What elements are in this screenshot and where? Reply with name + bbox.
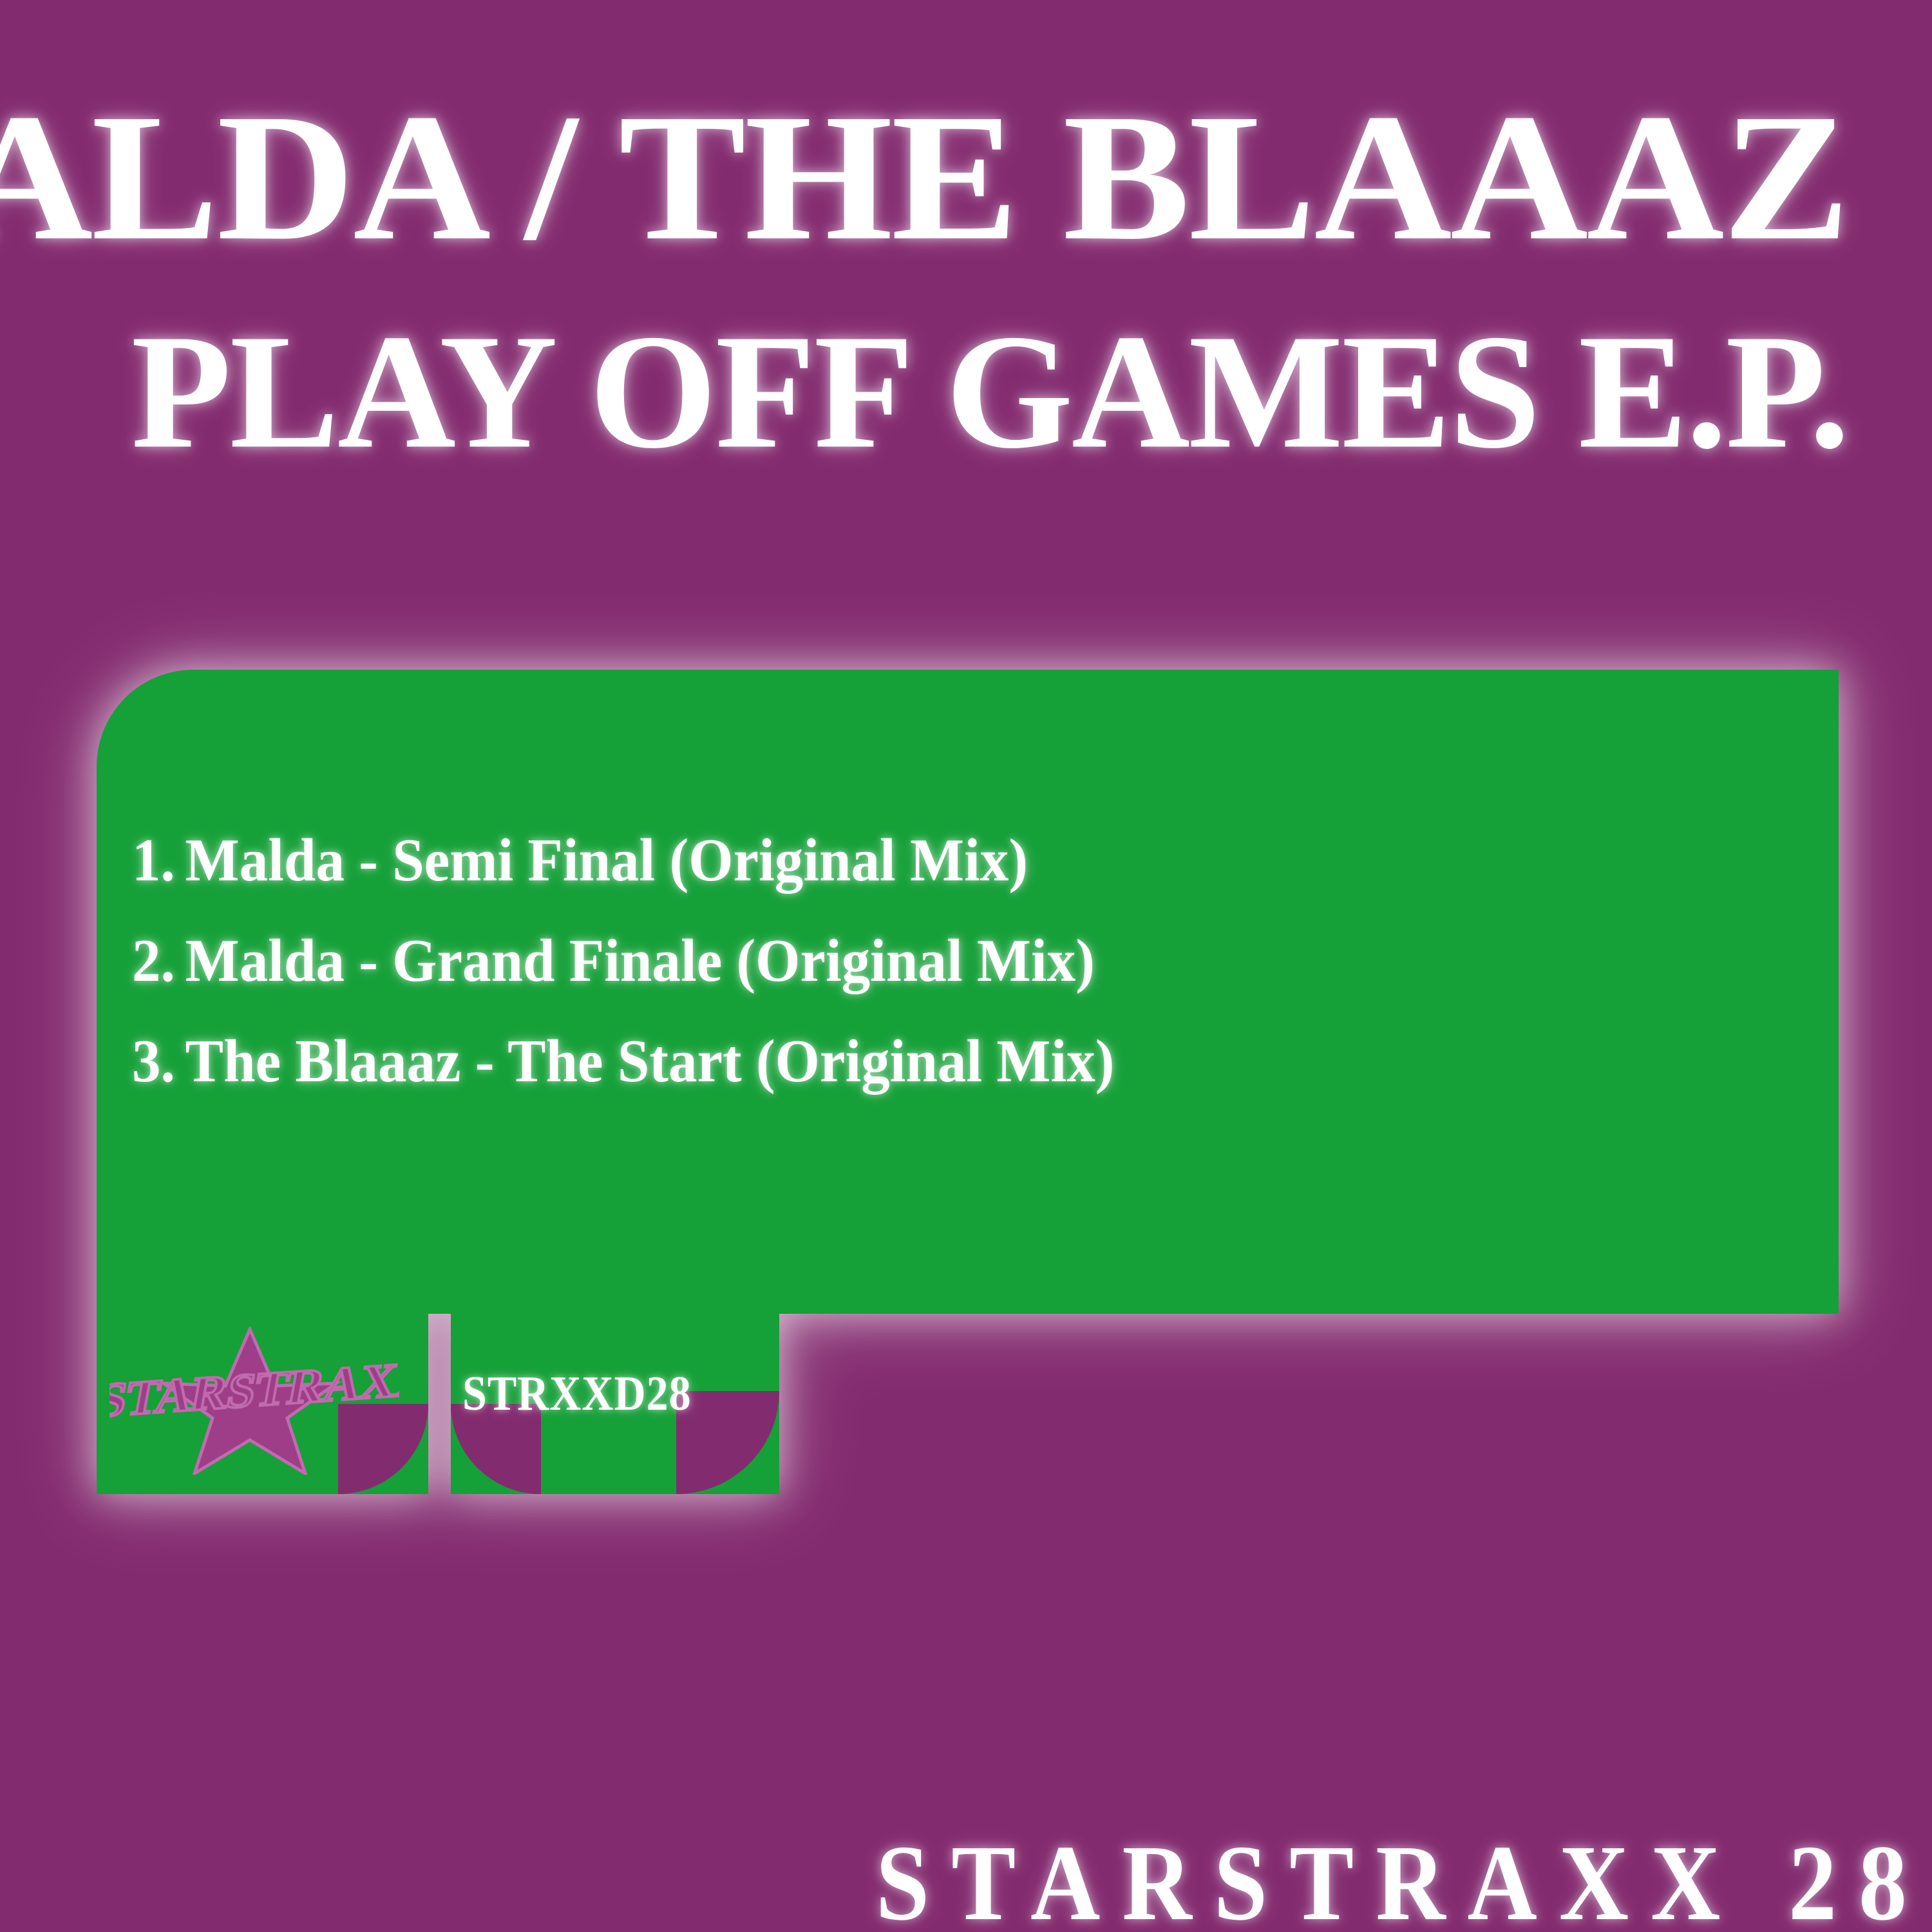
tracklist: 1.Malda - Semi Final (Original Mix) 2.Ma… [132,834,1678,1089]
tracklist-item: 2.Malda - Grand Finale (Original Mix) [132,931,1770,992]
track-number: 2. [132,931,185,992]
label-footer-text: STARSTRAXX 28 [0,1829,1929,1932]
album-cover-artwork: MALDA / THE BLAAAZ PLAY OFF GAMES E.P. 1… [0,0,1932,1932]
star-icon: STARSTRAXX [109,1327,399,1475]
track-title: Malda - Semi Final (Original Mix) [185,827,1028,894]
starstraxx-label-logo: STARSTRAXX [109,1327,399,1475]
track-title: The Blaaaz - The Start (Original Mix) [185,1028,1115,1095]
tracklist-item: 3.The Blaaaz - The Start (Original Mix) [132,1032,1770,1092]
tracklist-item: 1.Malda - Semi Final (Original Mix) [132,831,1770,891]
track-number: 3. [132,1032,185,1092]
catalog-number: STRXXD28 [462,1368,692,1417]
track-title: Malda - Grand Finale (Original Mix) [185,927,1095,994]
track-number: 1. [132,831,185,891]
